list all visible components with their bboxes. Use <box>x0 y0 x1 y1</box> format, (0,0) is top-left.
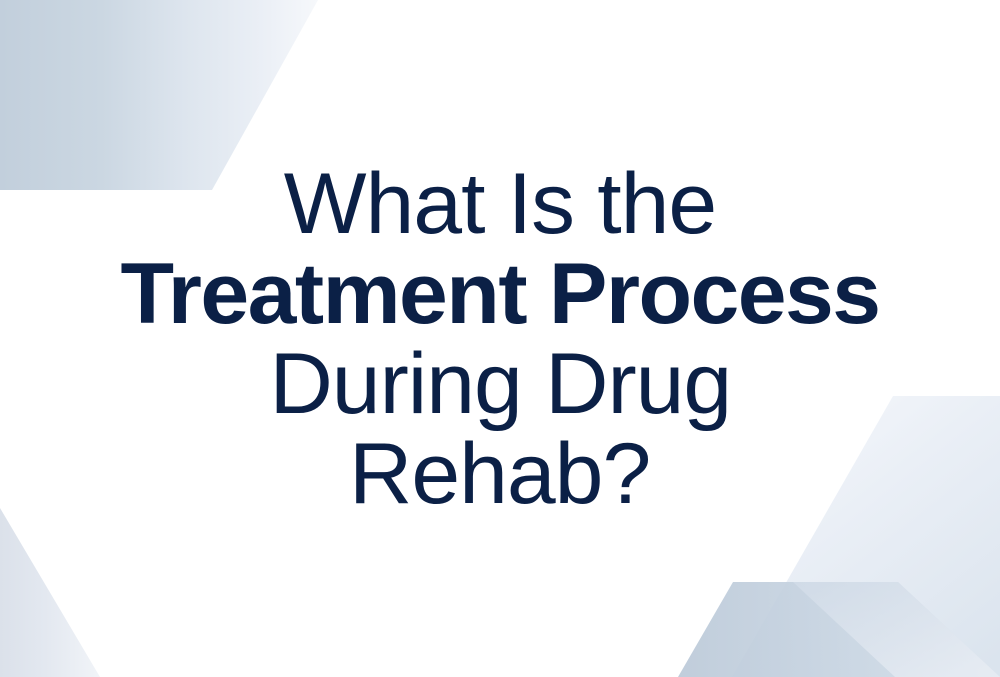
headline-line-4: Rehab? <box>349 431 650 517</box>
page-title: What Is the Treatment Process During Dru… <box>0 0 1000 677</box>
poster-canvas: What Is the Treatment Process During Dru… <box>0 0 1000 677</box>
headline-line-2: Treatment Process <box>121 251 880 337</box>
headline-line-1: What Is the <box>284 161 716 247</box>
headline-line-3: During Drug <box>269 341 731 427</box>
